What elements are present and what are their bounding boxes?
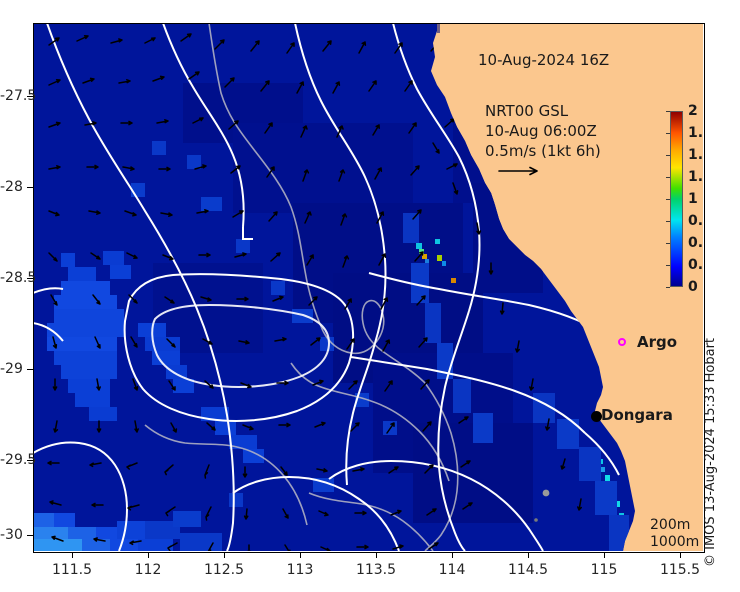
depth-label-1000m: 1000m bbox=[650, 534, 699, 551]
colorbar-tick bbox=[666, 155, 670, 156]
colorbar-tick-label: 0 bbox=[688, 279, 698, 295]
bathymetry-scale-legend: 200m 1000m bbox=[650, 517, 699, 551]
x-tick bbox=[376, 552, 377, 558]
colorbar-gradient[interactable] bbox=[670, 111, 683, 287]
colorbar-tick-label: 0.75 bbox=[688, 213, 703, 229]
x-tick-label: 114 bbox=[439, 562, 466, 578]
reference-arrow-icon bbox=[497, 163, 549, 179]
colorbar-tick bbox=[666, 177, 670, 178]
x-tick bbox=[72, 552, 73, 558]
map-plot-area[interactable]: 10-Aug-2024 16Z NRT00 GSL 10-Aug 06:00Z … bbox=[33, 23, 703, 551]
map-timestamp-label: 10-Aug-2024 16Z bbox=[478, 51, 609, 69]
colorbar-tick bbox=[666, 243, 670, 244]
y-tick-label: -29 bbox=[0, 361, 22, 377]
colorbar-tick-label: 2 bbox=[688, 103, 698, 119]
colorbar-tick-label: 1 bbox=[688, 191, 698, 207]
x-tick bbox=[224, 552, 225, 558]
x-tick-label: 113.5 bbox=[356, 562, 396, 578]
colorbar-tick bbox=[666, 199, 670, 200]
x-tick-label: 115.5 bbox=[660, 562, 700, 578]
y-tick bbox=[27, 535, 33, 536]
colorbar-tick bbox=[666, 287, 670, 288]
x-tick bbox=[604, 552, 605, 558]
depth-label-200m: 200m bbox=[650, 517, 699, 534]
figure-canvas: 10-Aug-2024 16Z NRT00 GSL 10-Aug 06:00Z … bbox=[0, 0, 740, 592]
y-tick-label: -28.5 bbox=[0, 270, 22, 286]
y-tick-label: -28 bbox=[0, 179, 22, 195]
x-tick bbox=[680, 552, 681, 558]
map-raster-and-contours bbox=[33, 23, 703, 551]
copyright-credit: © IMOS 13-Aug-2024 15:33 Hobart bbox=[703, 338, 718, 567]
dongara-city-label: Dongara bbox=[601, 406, 673, 424]
vector-legend-block: NRT00 GSL 10-Aug 06:00Z 0.5m/s (1kt 6h) bbox=[485, 101, 601, 179]
x-tick-label: 112.5 bbox=[204, 562, 244, 578]
y-tick bbox=[27, 187, 33, 188]
x-tick bbox=[300, 552, 301, 558]
y-tick bbox=[27, 369, 33, 370]
colorbar-tick-label: 0.25 bbox=[688, 257, 703, 273]
colorbar-tick-label: 1.5 bbox=[688, 147, 703, 163]
argo-legend-label: Argo bbox=[637, 333, 677, 351]
x-tick-label: 112 bbox=[135, 562, 162, 578]
argo-marker-icon[interactable] bbox=[618, 338, 626, 346]
y-tick-label: -30 bbox=[0, 527, 22, 543]
vector-scale-label: 0.5m/s (1kt 6h) bbox=[485, 141, 601, 161]
x-tick bbox=[148, 552, 149, 558]
colorbar-tick bbox=[666, 265, 670, 266]
x-tick bbox=[452, 552, 453, 558]
colorbar-tick bbox=[666, 111, 670, 112]
y-tick-label: -29.5 bbox=[0, 452, 22, 468]
colorbar-tick-label: 0.5 bbox=[688, 235, 703, 251]
colorbar-tick-label: 1.25 bbox=[688, 169, 703, 185]
x-tick-label: 114.5 bbox=[508, 562, 548, 578]
colorbar-tick bbox=[666, 133, 670, 134]
y-tick-label: -27.5 bbox=[0, 88, 22, 104]
x-tick-label: 115 bbox=[591, 562, 618, 578]
x-tick-label: 111.5 bbox=[52, 562, 92, 578]
vector-source-label: NRT00 GSL bbox=[485, 101, 601, 121]
vector-time-label: 10-Aug 06:00Z bbox=[485, 121, 601, 141]
colorbar-tick-label: 1.75 bbox=[688, 125, 703, 141]
colorbar-tick bbox=[666, 221, 670, 222]
x-tick bbox=[528, 552, 529, 558]
x-tick-label: 113 bbox=[287, 562, 314, 578]
